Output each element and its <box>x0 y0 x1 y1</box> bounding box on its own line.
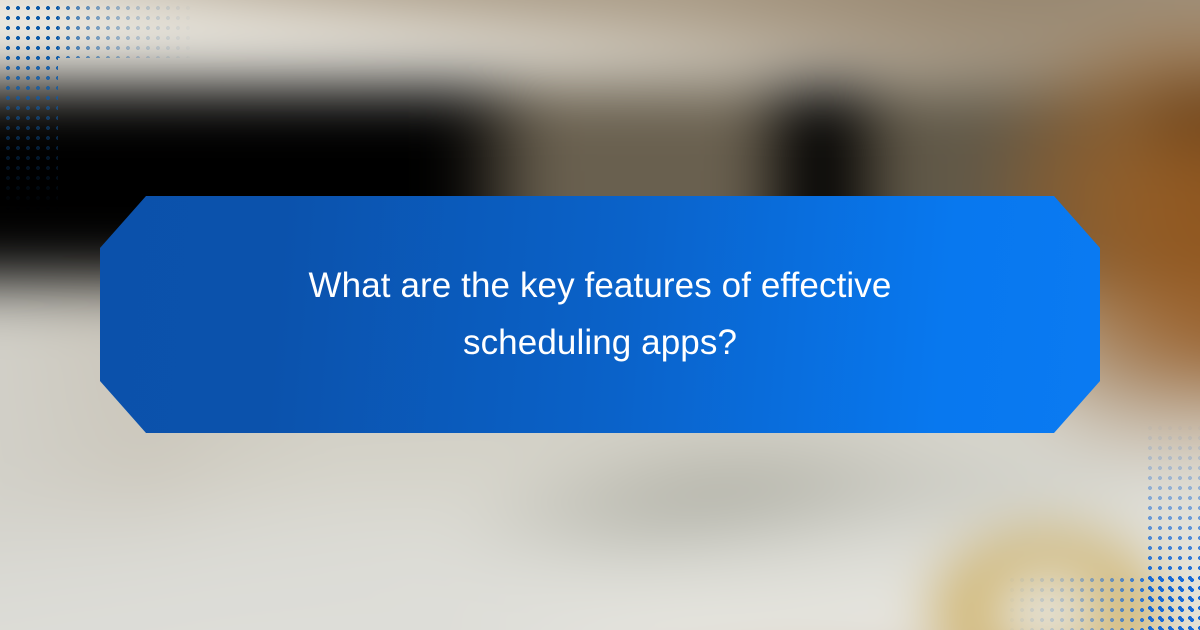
headline-banner: What are the key features of effective s… <box>100 196 1100 433</box>
headline-text: What are the key features of effective s… <box>210 258 990 371</box>
banner-card: What are the key features of effective s… <box>0 0 1200 630</box>
